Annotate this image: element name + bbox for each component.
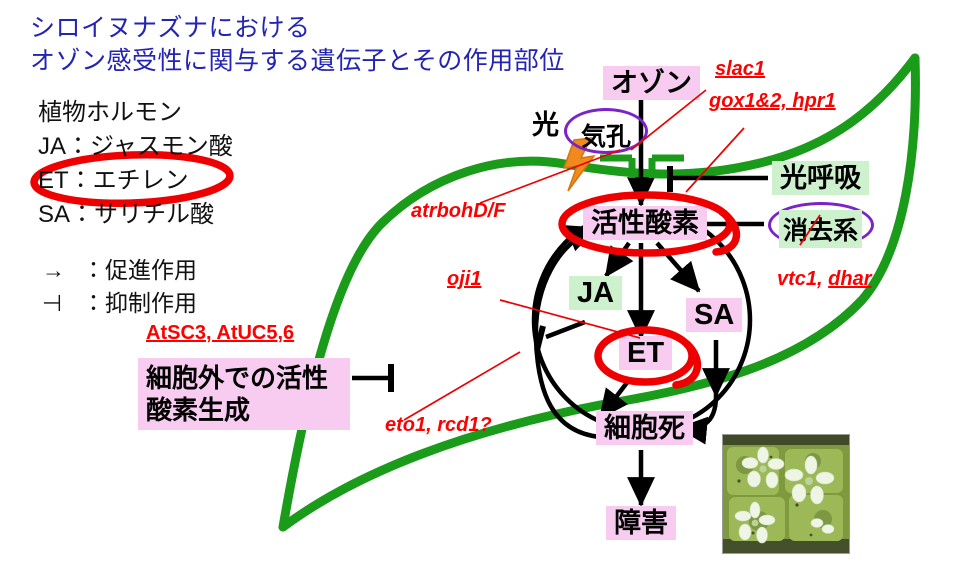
gene-label-slac1: slac1 — [715, 58, 765, 81]
legend-promote-symbol: → — [42, 254, 82, 287]
legend-promote-label: ：促進作用 — [82, 257, 197, 283]
hormone-ja: JA：ジャスモン酸 — [38, 133, 233, 160]
gene-label-gox-hpr: gox1&2, hpr1 — [709, 90, 836, 113]
page-title-line2: オゾン感受性に関与する遺伝子とその作用部位 — [30, 47, 565, 75]
arabidopsis-photo-art — [723, 435, 849, 553]
hormone-et: ET：エチレン — [38, 167, 189, 194]
gene-label-eto1-rcd1: eto1, rcd1? — [385, 414, 492, 437]
page-title: シロイヌナズナにおける オゾン感受性に関与する遺伝子とその作用部位 — [30, 12, 565, 78]
hormone-heading: 植物ホルモン — [38, 99, 182, 126]
gene-label-oji1: oji1 — [447, 268, 481, 291]
legend-inhibit-label: ：抑制作用 — [82, 290, 197, 316]
diagram-canvas: オゾン 光 気孔 光呼吸 活性酸素 消去系 JA SA ET 細胞死 障害 細胞… — [0, 0, 960, 566]
page-title-line1: シロイヌナズナにおける — [30, 14, 311, 42]
gene-label-atsc3-atuc: AtSC3, AtUC5,6 — [146, 322, 294, 345]
gene-label-vtc1-dhar: vtc1, dhar — [777, 268, 872, 291]
arrow-legend: →：促進作用 ⊣：抑制作用 — [42, 254, 197, 320]
gene-label-atrbohdf: atrbohD/F — [411, 200, 505, 223]
legend-inhibit-symbol: ⊣ — [42, 287, 82, 320]
hormone-sa: SA：サリチル酸 — [38, 201, 214, 228]
gene-dhar: dhar — [828, 268, 871, 290]
gene-vtc1: vtc1, — [777, 268, 828, 290]
arabidopsis-photo — [722, 434, 850, 554]
hormone-legend: 植物ホルモン JA：ジャスモン酸 ET：エチレン SA：サリチル酸 — [38, 96, 233, 232]
